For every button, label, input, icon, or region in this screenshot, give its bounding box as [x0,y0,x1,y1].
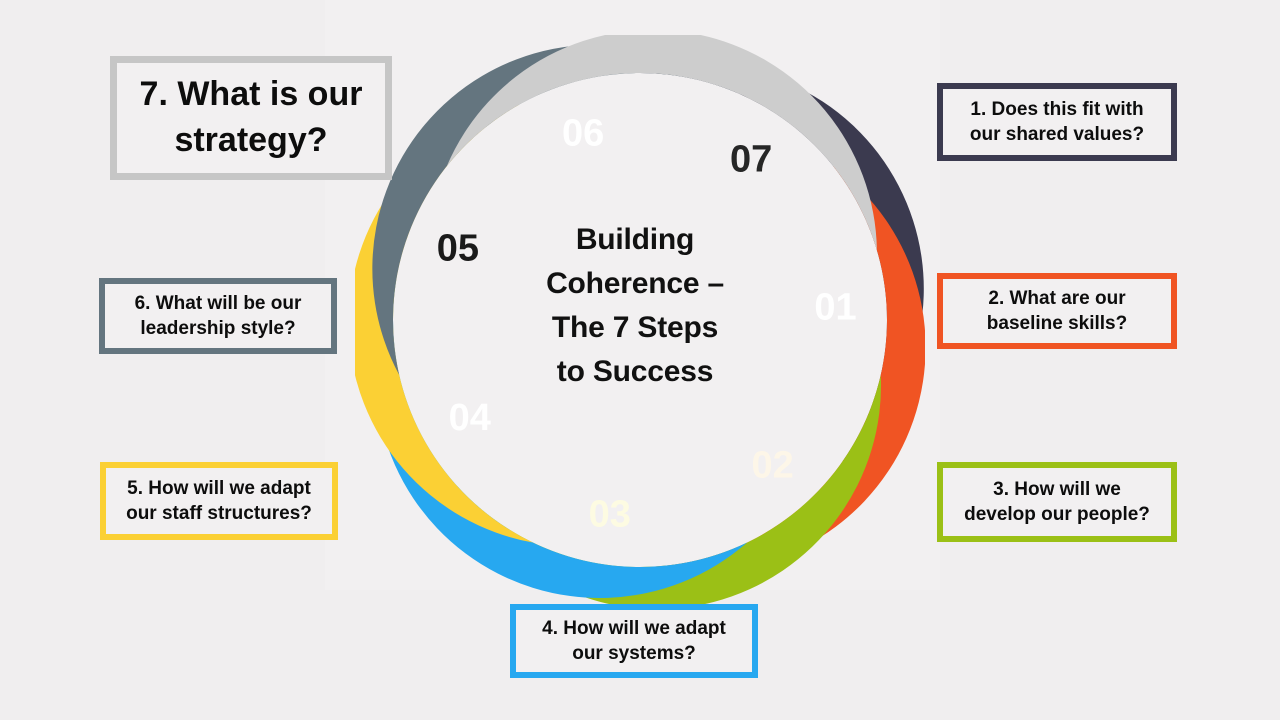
callout-4-line-1: 4. How will we adapt [542,616,726,641]
center-title-line-2: Coherence – [500,262,770,306]
center-title-line-3: The 7 Steps [500,306,770,350]
petal-number-04: 04 [449,397,491,439]
callout-7-line-2: strategy? [140,118,363,164]
seven-steps-cycle-diagram: 01020304050607 Building Coherence – The … [0,0,1280,720]
callout-2-line-2: baseline skills? [987,311,1127,336]
petal-number-06: 06 [562,112,604,154]
petal-number-03: 03 [589,494,631,536]
callout-step-7[interactable]: 7. What is our strategy? [110,56,392,180]
callout-6-line-2: leadership style? [135,316,302,341]
callout-step-1[interactable]: 1. Does this fit with our shared values? [937,83,1177,161]
callout-step-3[interactable]: 3. How will we develop our people? [937,462,1177,542]
petal-number-05: 05 [437,228,479,270]
callout-1-line-1: 1. Does this fit with [970,97,1144,122]
callout-3-line-1: 3. How will we [964,477,1150,502]
diagram-center-title: Building Coherence – The 7 Steps to Succ… [500,218,770,394]
callout-2-line-1: 2. What are our [987,286,1127,311]
callout-step-2[interactable]: 2. What are our baseline skills? [937,273,1177,349]
petal-number-01: 01 [814,286,856,328]
callout-7-line-1: 7. What is our [140,72,363,118]
callout-step-4[interactable]: 4. How will we adapt our systems? [510,604,758,678]
callout-1-line-2: our shared values? [970,122,1144,147]
center-title-line-1: Building [500,218,770,262]
callout-5-line-2: our staff structures? [126,501,312,526]
callout-5-line-1: 5. How will we adapt [126,476,312,501]
callout-3-line-2: develop our people? [964,502,1150,527]
callout-step-6[interactable]: 6. What will be our leadership style? [99,278,337,354]
callout-6-line-1: 6. What will be our [135,291,302,316]
center-title-line-4: to Success [500,350,770,394]
petal-number-02: 02 [751,444,793,486]
callout-step-5[interactable]: 5. How will we adapt our staff structure… [100,462,338,540]
petal-number-07: 07 [730,139,772,181]
callout-4-line-2: our systems? [542,641,726,666]
